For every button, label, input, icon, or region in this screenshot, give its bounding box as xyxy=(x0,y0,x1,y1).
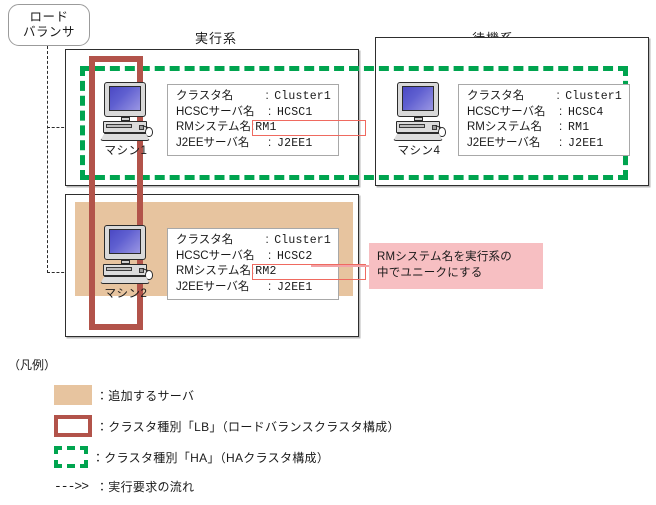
legend-swatch-red-rect xyxy=(54,415,92,437)
info-colon: : xyxy=(559,105,568,121)
info-row: J2EEサーバ名 : J2EE1 xyxy=(176,136,331,152)
drive-slot-icon xyxy=(106,267,132,271)
machine1-icon-group: マシン1 xyxy=(100,82,152,158)
info-key: J2EEサーバ名 xyxy=(176,280,268,296)
info-colon: : xyxy=(556,89,565,105)
legend-label: ：クラスタ種別「LB」（ロードバランスクラスタ構成） xyxy=(96,418,400,435)
info-key: RMシステム名 xyxy=(176,264,251,280)
machine2-info-box: クラスタ名 : Cluster1 HCSCサーバ名 : HCSC2 RMシステム… xyxy=(167,228,339,300)
keyboard-icon xyxy=(100,133,150,141)
info-row: クラスタ名 : Cluster1 xyxy=(176,89,331,105)
info-key: RMシステム名 xyxy=(467,120,559,136)
info-value: J2EE1 xyxy=(277,136,313,152)
drive-slot-icon xyxy=(106,124,132,128)
screen-icon xyxy=(109,86,141,111)
info-colon: : xyxy=(559,120,568,136)
screen-icon xyxy=(109,229,141,254)
load-balancer-label-line2: バランサ xyxy=(23,25,75,40)
callout-line2: 中でユニークにする xyxy=(377,265,535,281)
machine4-label: マシン4 xyxy=(393,142,445,158)
load-balancer-node: ロード バランサ xyxy=(8,4,90,46)
info-row: RMシステム名 : RM1 xyxy=(176,120,331,136)
legend-item-lb-cluster: ：クラスタ種別「LB」（ロードバランスクラスタ構成） xyxy=(54,415,400,437)
info-key: RMシステム名 xyxy=(176,120,251,136)
info-colon: : xyxy=(268,249,277,265)
machine1-label: マシン1 xyxy=(100,142,152,158)
info-key: クラスタ名 xyxy=(176,233,265,249)
info-value: Cluster1 xyxy=(565,89,622,105)
keyboard-icon xyxy=(393,133,443,141)
info-row: HCSCサーバ名 : HCSC4 xyxy=(467,105,622,121)
info-key: J2EEサーバ名 xyxy=(467,136,559,152)
info-colon: : xyxy=(265,233,274,249)
callout-line1: RMシステム名を実行系の xyxy=(377,249,535,265)
info-row: RMシステム名 : RM1 xyxy=(467,120,622,136)
info-colon: : xyxy=(268,136,277,152)
machine4-info-box: クラスタ名 : Cluster1 HCSCサーバ名 : HCSC4 RMシステム… xyxy=(458,84,630,156)
info-row: J2EEサーバ名 : J2EE1 xyxy=(467,136,622,152)
info-row: HCSCサーバ名 : HCSC1 xyxy=(176,105,331,121)
info-colon: : xyxy=(265,89,274,105)
info-row: クラスタ名 : Cluster1 xyxy=(467,89,622,105)
info-colon: : xyxy=(559,136,568,152)
legend-swatch-green-dashed-rect xyxy=(54,446,88,468)
info-key: J2EEサーバ名 xyxy=(176,136,268,152)
info-value: Cluster1 xyxy=(274,89,331,105)
flow-vertical-line xyxy=(47,46,48,273)
keyboard-icon xyxy=(100,276,150,284)
legend-swatch-tan-fill xyxy=(54,385,92,405)
legend-label: ：追加するサーバ xyxy=(96,387,194,404)
info-colon: : xyxy=(268,280,277,296)
callout-note: RMシステム名を実行系の 中でユニークにする xyxy=(369,243,543,289)
machine4-icon-group: マシン4 xyxy=(393,82,445,158)
legend-label: ：実行要求の流れ xyxy=(96,478,194,495)
dashed-arrow-icon: ---> xyxy=(54,479,81,494)
info-value: RM1 xyxy=(568,120,589,136)
drive-slot-icon xyxy=(399,124,425,128)
info-key: クラスタ名 xyxy=(467,89,556,105)
info-row: HCSCサーバ名 : HCSC2 xyxy=(176,249,331,265)
info-key: クラスタ名 xyxy=(176,89,265,105)
legend-item-added-server: ：追加するサーバ xyxy=(54,385,194,405)
legend-title: （凡例） xyxy=(8,356,56,373)
legend-swatch-dashed-arrow: --->> xyxy=(54,476,92,496)
machine2-label: マシン2 xyxy=(100,285,152,301)
info-key: HCSCサーバ名 xyxy=(467,105,559,121)
machine2-icon-group: マシン2 xyxy=(100,225,152,301)
info-key: HCSCサーバ名 xyxy=(176,249,268,265)
legend-label: ：クラスタ種別「HA」（HAクラスタ構成） xyxy=(92,449,329,466)
callout-connector-line xyxy=(311,265,371,267)
machine1-info-box: クラスタ名 : Cluster1 HCSCサーバ名 : HCSC1 RMシステム… xyxy=(167,84,339,156)
computer-icon xyxy=(100,225,152,283)
caption-active-system: 実行系 xyxy=(195,28,237,47)
info-value: Cluster1 xyxy=(274,233,331,249)
info-value: HCSC2 xyxy=(277,249,313,265)
legend-item-ha-cluster: ：クラスタ種別「HA」（HAクラスタ構成） xyxy=(54,446,329,468)
info-value: HCSC4 xyxy=(568,105,604,121)
info-value: J2EE1 xyxy=(568,136,604,152)
info-row: RMシステム名 : RM2 xyxy=(176,264,331,280)
info-colon: : xyxy=(268,105,277,121)
computer-icon xyxy=(100,82,152,140)
info-row: クラスタ名 : Cluster1 xyxy=(176,233,331,249)
computer-icon xyxy=(393,82,445,140)
info-row: J2EEサーバ名 : J2EE1 xyxy=(176,280,331,296)
screen-icon xyxy=(402,86,434,111)
info-key: HCSCサーバ名 xyxy=(176,105,268,121)
info-value: HCSC1 xyxy=(277,105,313,121)
legend-item-request-flow: --->> ：実行要求の流れ xyxy=(54,476,194,496)
load-balancer-label-line1: ロード xyxy=(29,10,68,25)
rm-system-name-highlight: RM1 xyxy=(252,120,366,136)
info-value: J2EE1 xyxy=(277,280,313,296)
